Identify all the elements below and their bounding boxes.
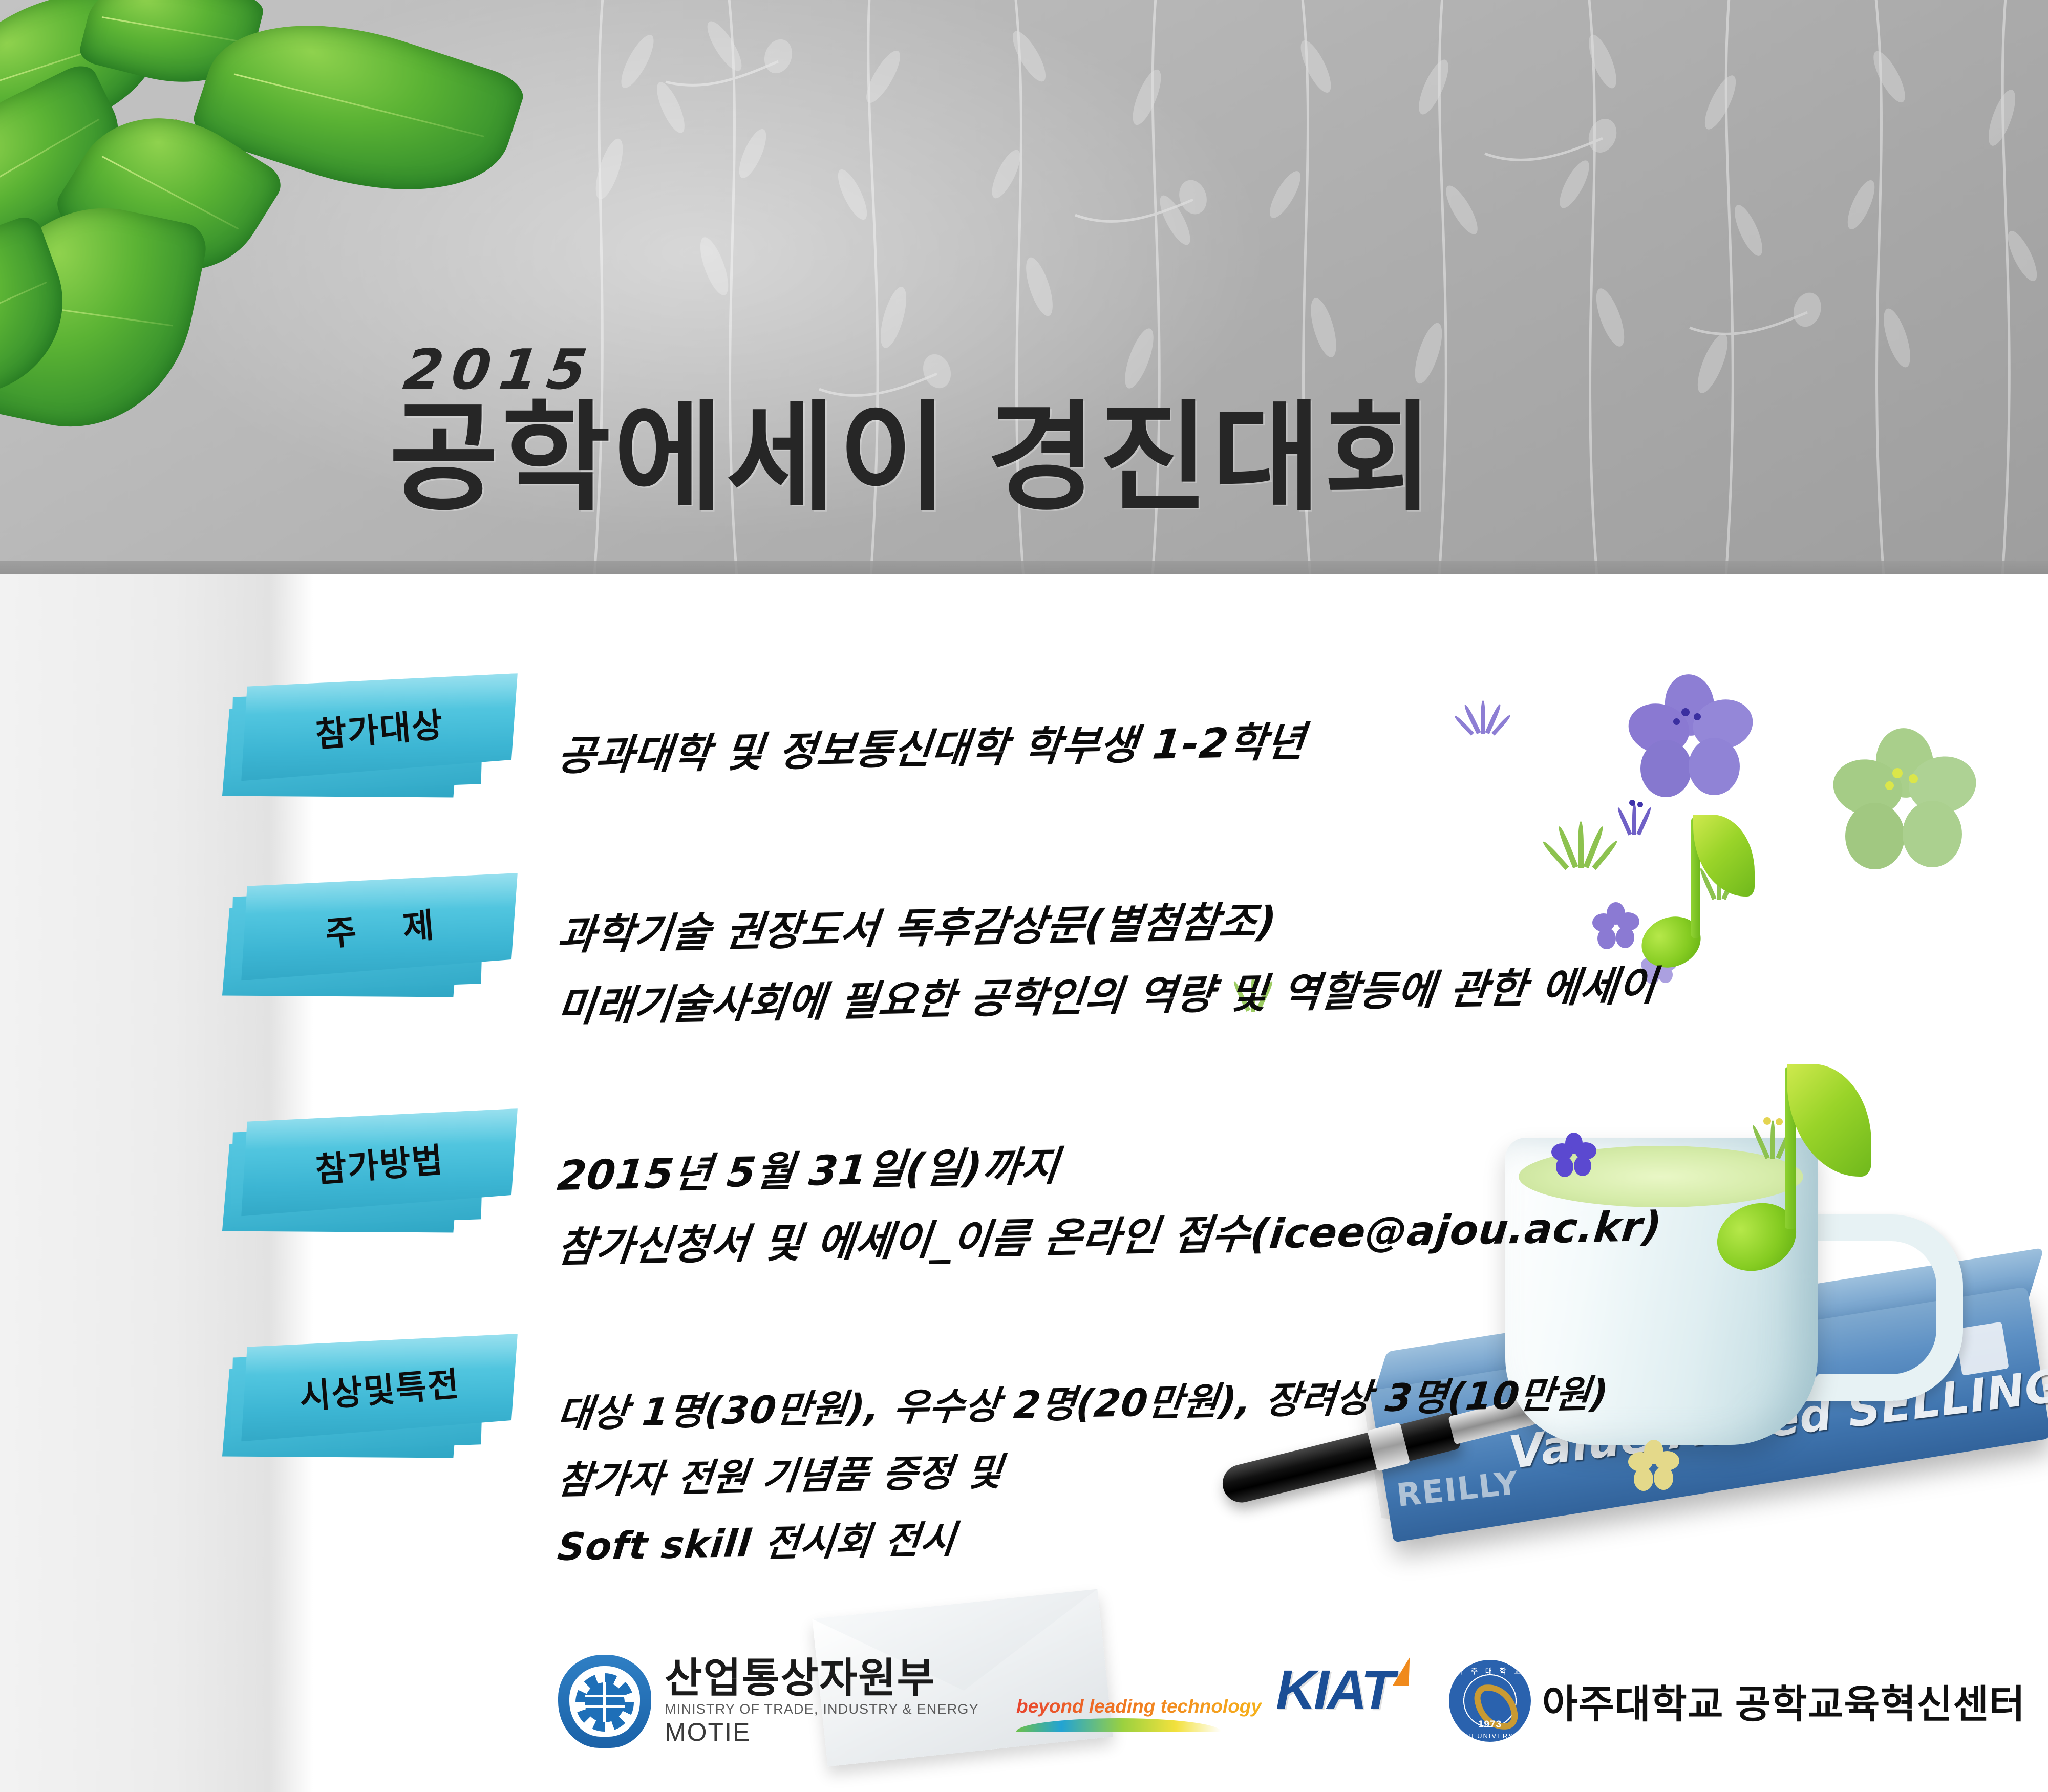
flower-purple-large	[1628, 674, 1751, 797]
poster-header: 2015 공학에세이 경진대회	[0, 0, 2048, 574]
poster-root: 2015 공학에세이 경진대회 REILLY Value-Added SELLI…	[0, 0, 2048, 1792]
flower-green-large	[1833, 728, 1976, 871]
sticky-note-participants[interactable]: 참가대상	[239, 673, 529, 840]
footer-logos: 산업통상자원부 MINISTRY OF TRADE, INDUSTRY & EN…	[0, 1644, 2048, 1792]
kiat-accent-icon	[1393, 1657, 1415, 1686]
ajou-seal-year: 1973	[1449, 1719, 1531, 1731]
page-title: 공학에세이 경진대회	[389, 399, 1436, 518]
music-note-large	[1710, 1061, 1879, 1281]
awards-line-2: 참가자 전원 기념품 증정 및	[555, 1441, 1006, 1505]
book-spine-badge	[1955, 1322, 2009, 1376]
flower-purple-small-a	[1592, 902, 1639, 949]
logo-kiat: beyond leading technology KIAT	[1016, 1662, 1411, 1717]
topic-line-1: 과학기술 권장도서 독후감상문(별첨참조)	[555, 888, 1280, 962]
ajou-seal-top-text: 아 주 대 학 교	[1449, 1666, 1531, 1676]
awards-line-3: Soft skill 전시회 전시	[555, 1509, 959, 1571]
flower-blue-small	[1551, 1133, 1596, 1178]
topic-line-2: 미래기술사회에 필요한 공학인의 역량 및 역할등에 관한 에세이	[555, 953, 1660, 1033]
participants-line-1: 공과대학 및 정보통신대학 학부생 1-2학년	[555, 709, 1309, 782]
music-note-small	[1636, 813, 1759, 976]
header-bottom-shadow	[0, 561, 2048, 574]
sprig-green-a	[1551, 820, 1608, 871]
kiat-wordmark: KIAT	[1276, 1658, 1393, 1720]
sticky-note-awards[interactable]: 시상및특전	[239, 1334, 529, 1500]
kiat-swoosh-icon	[1016, 1718, 1221, 1732]
poster-body: REILLY Value-Added SELLING	[0, 574, 2048, 1792]
howto-line-1: 2015년 5월 31일(일)까지	[555, 1133, 1062, 1202]
motie-abbr: MOTIE	[665, 1718, 979, 1746]
ajou-seal-icon: 아 주 대 학 교 1973 AJOU UNIVERSITY	[1449, 1660, 1531, 1742]
howto-line-2: 참가신청서 및 에세이_이름 온라인 접수(icee@ajou.ac.kr)	[555, 1193, 1665, 1274]
ajou-seal-bottom-text: AJOU UNIVERSITY	[1449, 1732, 1531, 1740]
motie-name-en: MINISTRY OF TRADE, INDUSTRY & ENERGY	[665, 1700, 979, 1718]
logo-motie: 산업통상자원부 MINISTRY OF TRADE, INDUSTRY & EN…	[558, 1655, 979, 1748]
logo-ajou: 아 주 대 학 교 1973 AJOU UNIVERSITY 아주대학교 공학교…	[1449, 1660, 2025, 1742]
motie-name-ko: 산업통상자원부	[665, 1656, 979, 1700]
sticky-note-howto[interactable]: 참가방법	[239, 1108, 529, 1275]
motie-emblem-icon	[558, 1655, 651, 1748]
flower-yellow-small	[1628, 1440, 1679, 1491]
ajou-center-name: 아주대학교 공학교육혁신센터	[1542, 1673, 2025, 1729]
sprig-purple-a	[1459, 697, 1505, 738]
sticky-note-topic[interactable]: 주 제	[239, 873, 529, 1039]
kiat-tagline: beyond leading technology	[1016, 1696, 1262, 1717]
